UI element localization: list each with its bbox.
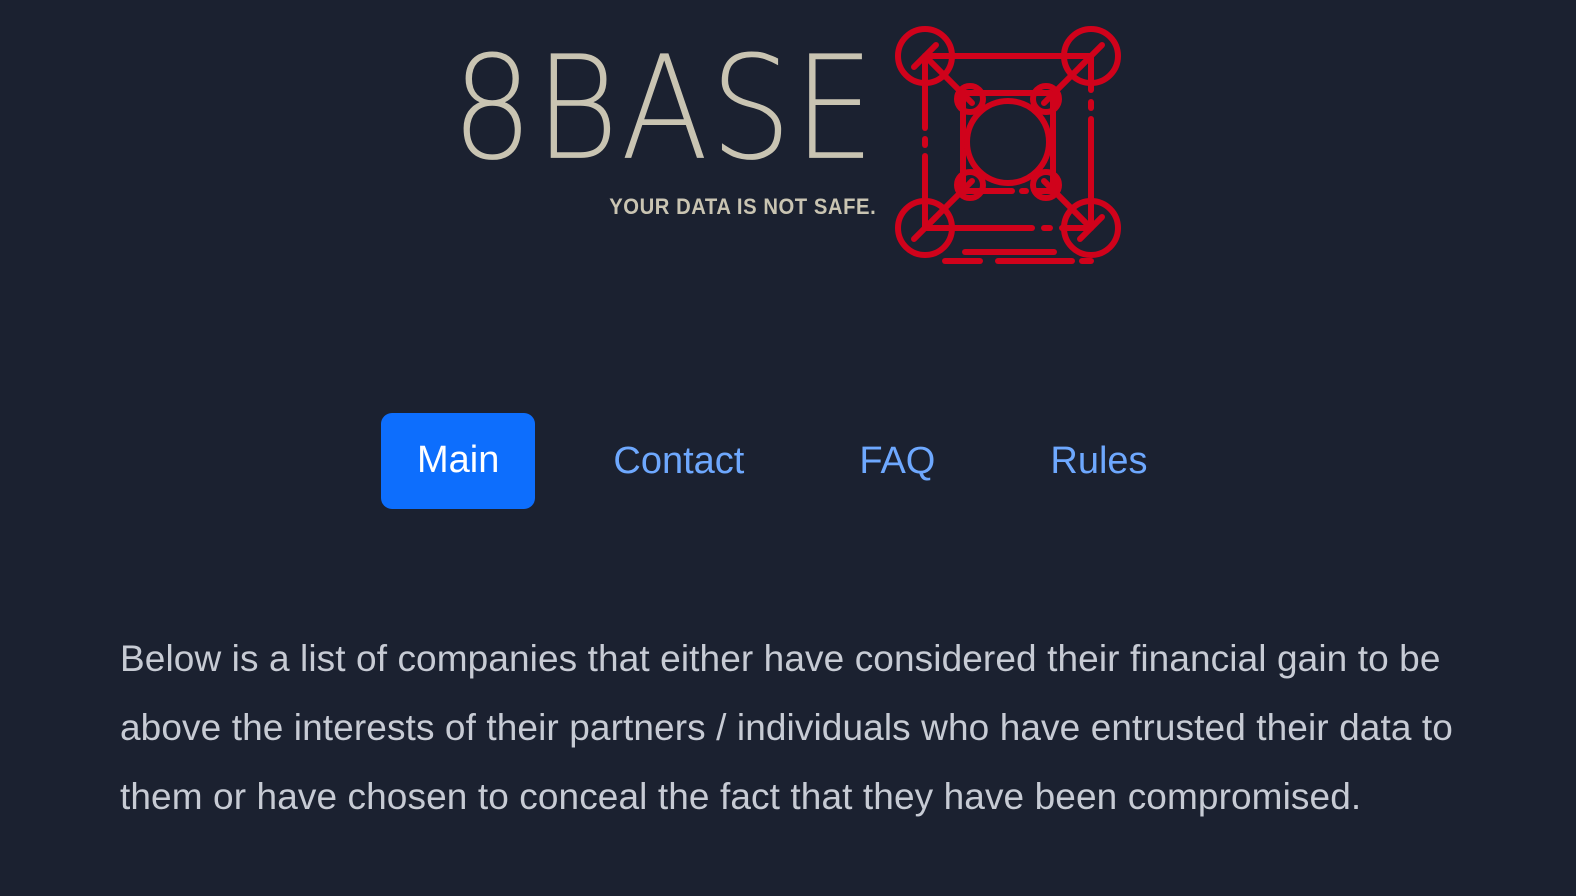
- logo-inner: 8BASE YOUR DATA IS NOT SAFE.: [452, 18, 1125, 268]
- network-cube-icon: [892, 18, 1124, 268]
- site-logo: 8BASE YOUR DATA IS NOT SAFE.: [0, 18, 1576, 268]
- logo-wordmark-group: 8BASE YOUR DATA IS NOT SAFE.: [452, 18, 877, 220]
- page-root: 8BASE YOUR DATA IS NOT SAFE.: [0, 0, 1576, 896]
- logo-wordmark: 8BASE: [452, 41, 877, 177]
- nav-tab-main[interactable]: Main: [381, 413, 535, 509]
- main-nav: Main Contact FAQ Rules: [0, 413, 1576, 509]
- nav-tab-rules[interactable]: Rules: [1050, 442, 1147, 480]
- nav-rail: Main Contact FAQ Rules: [373, 413, 1203, 509]
- nav-tab-faq[interactable]: FAQ: [859, 442, 935, 480]
- nav-tab-contact[interactable]: Contact: [613, 442, 744, 480]
- intro-paragraph: Below is a list of companies that either…: [120, 625, 1480, 831]
- logo-tagline: YOUR DATA IS NOT SAFE.: [609, 194, 876, 220]
